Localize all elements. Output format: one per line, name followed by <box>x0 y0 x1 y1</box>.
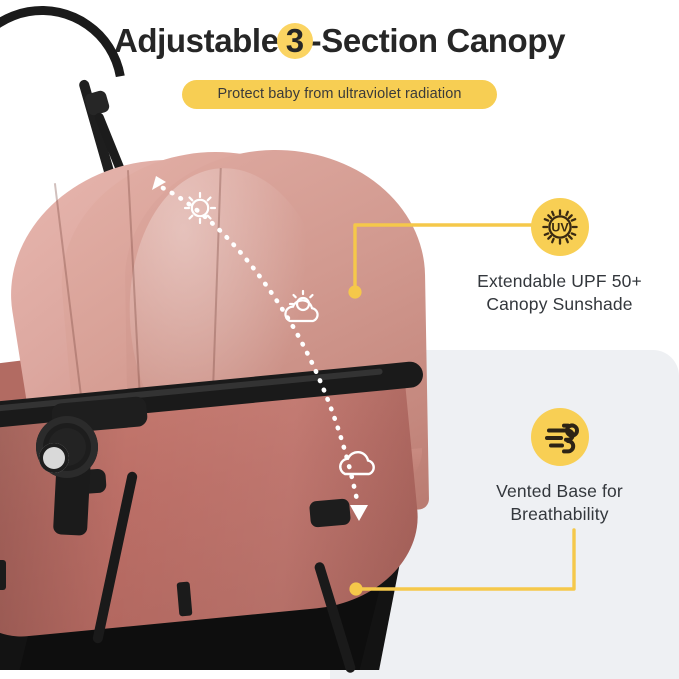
uv-badge: UV <box>531 198 589 256</box>
frame-release-knob <box>39 443 69 473</box>
bassinet-latch-right <box>309 498 351 527</box>
callout-vented-base[interactable]: Vented Base for Breathability <box>440 408 679 526</box>
product-image-bassinet-stroller <box>0 0 440 679</box>
bassinet-foot-tab-secondary <box>0 560 6 590</box>
uv-badge-label: UV <box>551 221 569 235</box>
infographic-canvas: Adjustable 3-Section Canopy Protect baby… <box>0 0 679 679</box>
uv-sun-icon: UV <box>531 198 589 256</box>
callout-uv-label: Extendable UPF 50+ Canopy Sunshade <box>440 270 679 316</box>
airflow-icon <box>531 408 589 466</box>
callout-uv-sunshade[interactable]: UV Extendable UPF 50+ Canopy Sunshade <box>440 198 679 316</box>
callout-vent-label: Vented Base for Breathability <box>440 480 679 526</box>
vent-badge <box>531 408 589 466</box>
